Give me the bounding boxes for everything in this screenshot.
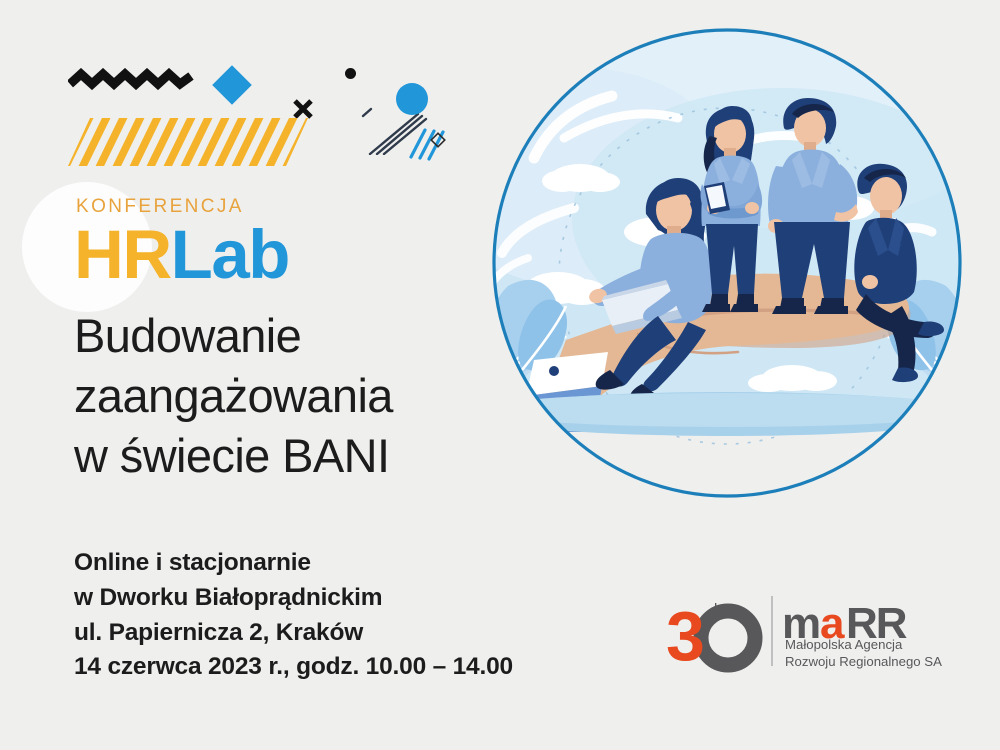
logo-subtitle-line-1: Małopolska Agencja bbox=[785, 637, 942, 654]
yellow-hatch-band-icon bbox=[68, 118, 308, 166]
small-outlined-diamond-icon bbox=[430, 132, 446, 148]
page-title: Budowanie zaangażowania w świecie BANI bbox=[74, 306, 494, 485]
hand-holding-business-team-illustration bbox=[462, 18, 992, 518]
blue-diamond-icon bbox=[212, 65, 252, 105]
x-mark-icon bbox=[292, 98, 314, 120]
detail-line-venue: w Dworku Białoprądnickim bbox=[74, 581, 513, 616]
detail-line-datetime: 14 czerwca 2023 r., godz. 10.00 – 14.00 bbox=[74, 650, 513, 685]
headline-line-1: Budowanie bbox=[74, 306, 494, 366]
wordmark-hr: HR bbox=[74, 216, 171, 293]
logo-subtitle-line-2: Rozwoju Regionalnego SA bbox=[785, 654, 942, 671]
blue-circle-icon bbox=[396, 83, 428, 115]
black-dot-icon bbox=[345, 68, 356, 79]
zigzag-icon bbox=[68, 68, 198, 94]
detail-line-address: ul. Papiernicza 2, Kraków bbox=[74, 616, 513, 651]
detail-line-format: Online i stacjonarnie bbox=[74, 546, 513, 581]
hrlab-wordmark: HRLab bbox=[74, 220, 494, 290]
kicker-label: KONFERENCJA bbox=[76, 196, 494, 218]
text-column: KONFERENCJA HRLab Budowanie zaangażowani… bbox=[74, 196, 494, 485]
anniversary-word: lat bbox=[714, 601, 731, 618]
anniversary-30-lat-icon: 3 lat bbox=[666, 597, 755, 674]
headline-line-2: zaangażowania bbox=[74, 366, 494, 426]
svg-text:3: 3 bbox=[666, 597, 705, 674]
conference-poster: KONFERENCJA HRLab Budowanie zaangażowani… bbox=[0, 0, 1000, 750]
headline-line-3: w świecie BANI bbox=[74, 426, 494, 486]
wordmark-lab: Lab bbox=[171, 216, 289, 293]
marr-logo-subtitle: Małopolska Agencja Rozwoju Regionalnego … bbox=[785, 637, 942, 671]
event-details: Online i stacjonarnie w Dworku Białoprąd… bbox=[74, 546, 513, 685]
